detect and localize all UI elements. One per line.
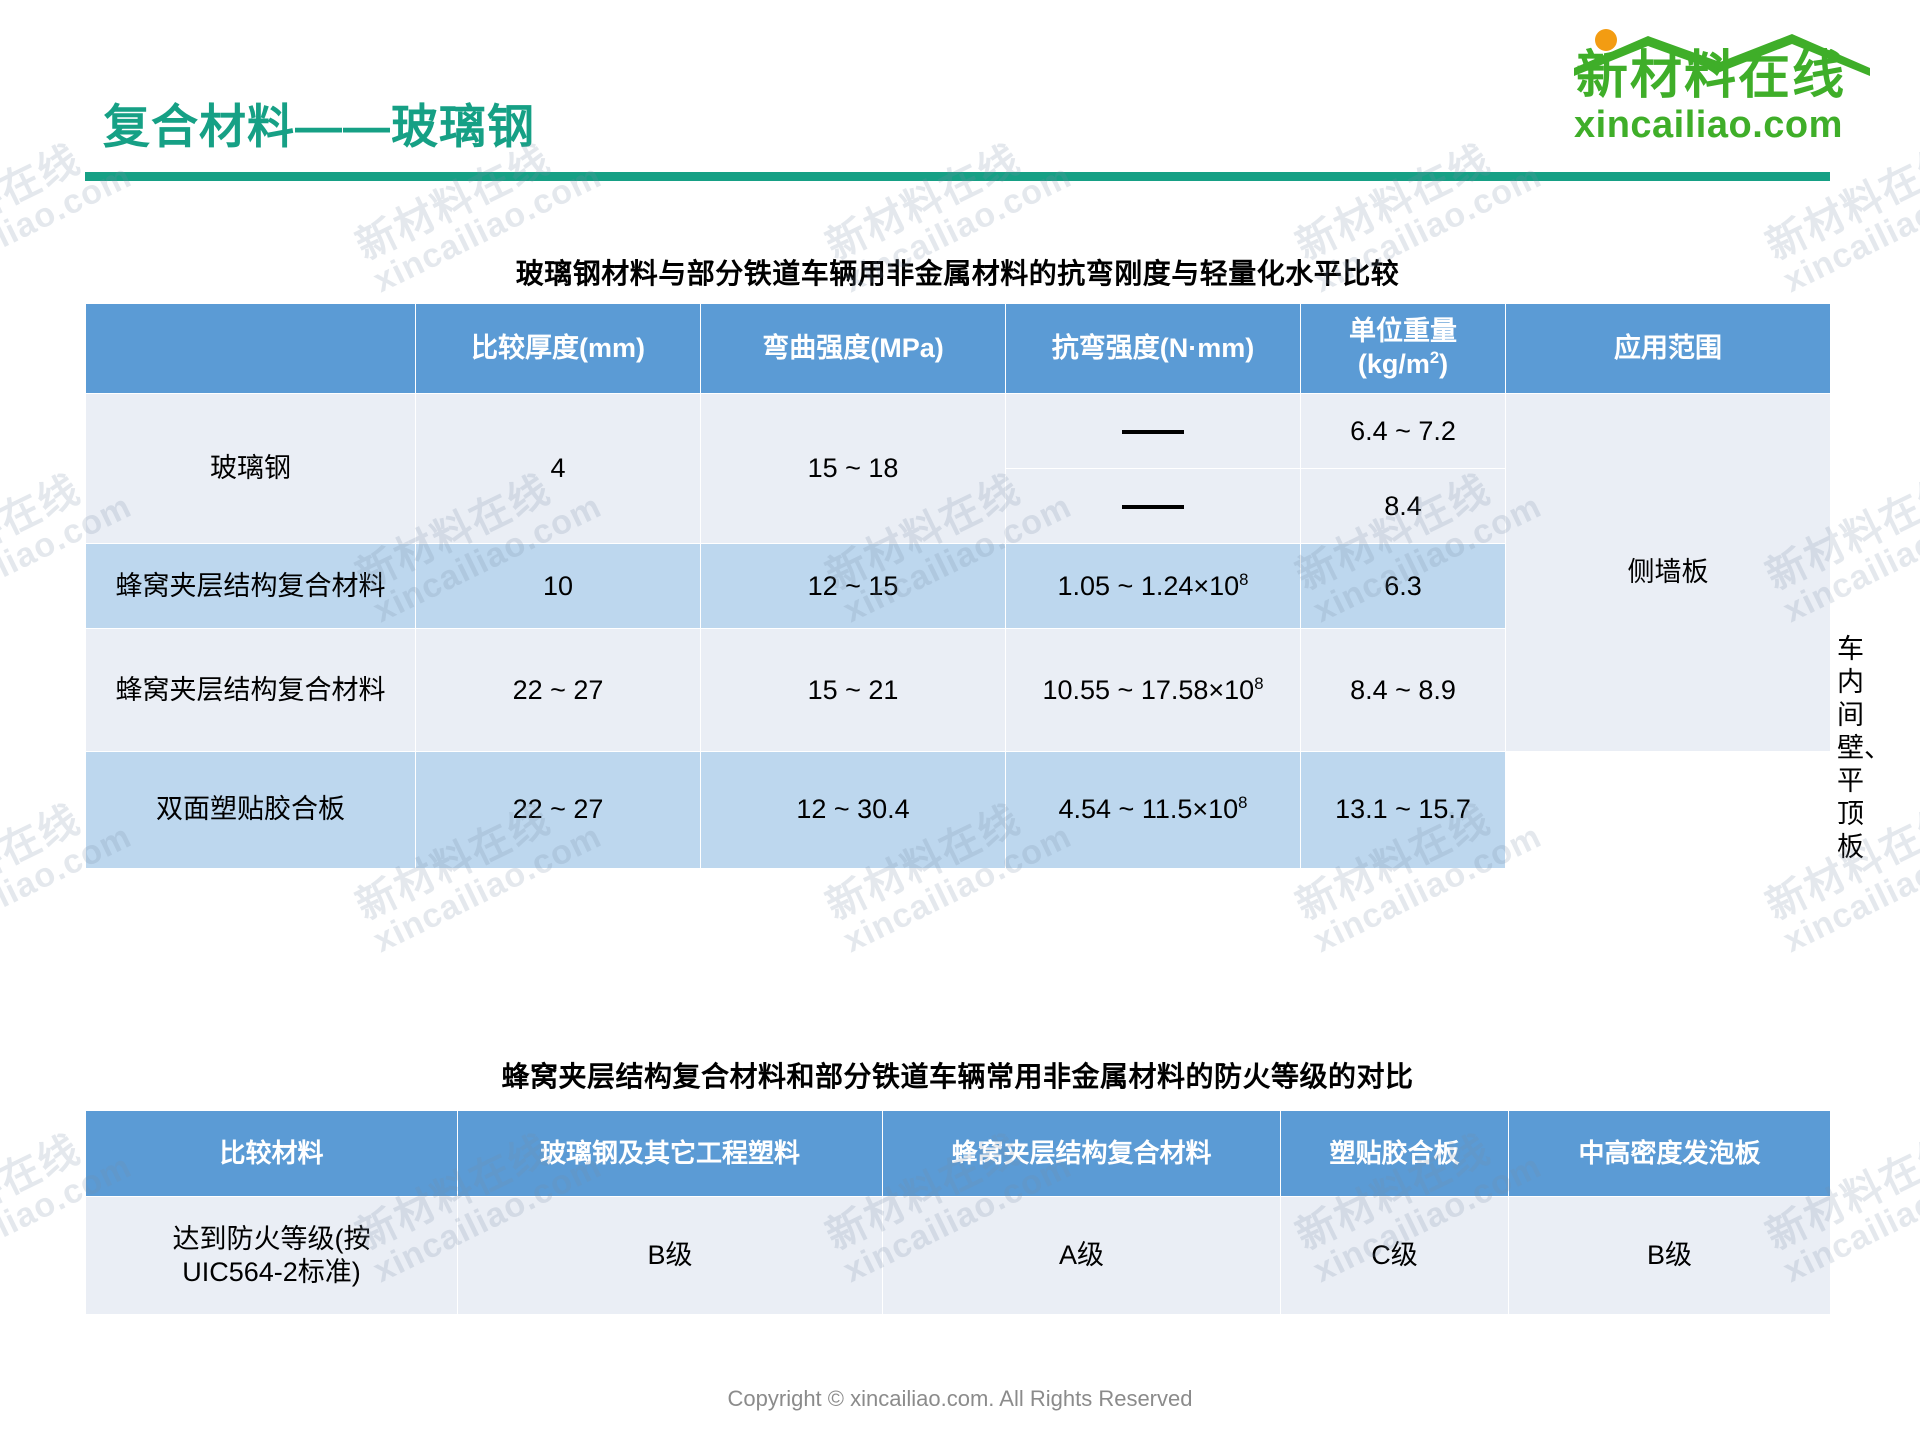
row1-material: 玻璃钢 <box>86 394 416 544</box>
row2-bending-strength: 12 ~ 15 <box>701 544 1006 629</box>
table-row: 达到防火等级(按 UIC564-2标准) B级 A级 C级 B级 <box>86 1197 1831 1315</box>
slide-header: 复合材料——玻璃钢 新材料在线 xincailiao.com <box>0 0 1920 190</box>
em-dash-icon <box>1122 430 1184 434</box>
brand-logo[interactable]: 新材料在线 xincailiao.com <box>1570 28 1880 140</box>
row4-flexural-exponent: 8 <box>1238 793 1247 812</box>
table1-col-flexural-strength: 抗弯强度(N·mm) <box>1006 304 1301 394</box>
table2-title: 蜂窝夹层结构复合材料和部分铁道车辆常用非金属材料的防火等级的对比 <box>85 1055 1830 1095</box>
row4-unit-weight: 13.1 ~ 15.7 <box>1301 752 1506 869</box>
unit-weight-line1: 单位重量 <box>1349 316 1457 346</box>
fire-rating-frp: B级 <box>458 1197 883 1315</box>
row1-unit-weight-a: 6.4 ~ 7.2 <box>1301 394 1506 469</box>
table1-col-bending-strength: 弯曲强度(MPa) <box>701 304 1006 394</box>
table2-header-row: 比较材料 玻璃钢及其它工程塑料 蜂窝夹层结构复合材料 塑贴胶合板 中高密度发泡板 <box>86 1111 1831 1197</box>
fire-rating-label: 达到防火等级(按 UIC564-2标准) <box>86 1197 458 1315</box>
row4-thickness: 22 ~ 27 <box>416 752 701 869</box>
em-dash-icon <box>1122 505 1184 509</box>
row4-flexural-base: 4.54 ~ 11.5×10 <box>1059 794 1239 824</box>
row2-flexural-base: 1.05 ~ 1.24×10 <box>1058 571 1240 601</box>
table1-title: 玻璃钢材料与部分铁道车辆用非金属材料的抗弯刚度与轻量化水平比较 <box>85 252 1830 292</box>
unit-weight-line2-pre: (kg/m <box>1358 349 1430 379</box>
unit-weight-exponent: 2 <box>1430 348 1439 367</box>
table1-header-row: 比较厚度(mm) 弯曲强度(MPa) 抗弯强度(N·mm) 单位重量 (kg/m… <box>86 304 1831 394</box>
table2-col-foam-board: 中高密度发泡板 <box>1509 1111 1831 1197</box>
table2-col-honeycomb: 蜂窝夹层结构复合材料 <box>883 1111 1281 1197</box>
row3-flexural-base: 10.55 ~ 17.58×10 <box>1042 675 1254 705</box>
title-underline-rule <box>85 172 1830 181</box>
table2-col-material: 比较材料 <box>86 1111 458 1197</box>
comparison-table-fire-rating: 比较材料 玻璃钢及其它工程塑料 蜂窝夹层结构复合材料 塑贴胶合板 中高密度发泡板… <box>85 1110 1831 1315</box>
table1-col-thickness: 比较厚度(mm) <box>416 304 701 394</box>
row1-application: 侧墙板 <box>1506 394 1831 752</box>
row1-flexural-strength-b <box>1006 469 1301 544</box>
row1-flexural-strength-a <box>1006 394 1301 469</box>
logo-name-cn: 新材料在线 <box>1576 48 1846 104</box>
table1-col-application: 应用范围 <box>1506 304 1831 394</box>
footer-copyright: Copyright © xincailiao.com. All Rights R… <box>0 1386 1920 1412</box>
table-row: 玻璃钢 4 15 ~ 18 6.4 ~ 7.2 侧墙板 <box>86 394 1831 469</box>
row3-material: 蜂窝夹层结构复合材料 <box>86 629 416 752</box>
row1-unit-weight-b: 8.4 <box>1301 469 1506 544</box>
fire-rating-honeycomb: A级 <box>883 1197 1281 1315</box>
row1-bending-strength: 15 ~ 18 <box>701 394 1006 544</box>
fire-rating-label-line1: 达到防火等级(按 <box>173 1224 371 1254</box>
table2-col-plywood: 塑贴胶合板 <box>1281 1111 1509 1197</box>
logo-url: xincailiao.com <box>1574 104 1843 147</box>
row3-thickness: 22 ~ 27 <box>416 629 701 752</box>
row3-unit-weight: 8.4 ~ 8.9 <box>1301 629 1506 752</box>
fire-rating-plywood: C级 <box>1281 1197 1509 1315</box>
row2-flexural-strength: 1.05 ~ 1.24×108 <box>1006 544 1301 629</box>
row2-material: 蜂窝夹层结构复合材料 <box>86 544 416 629</box>
row2-unit-weight: 6.3 <box>1301 544 1506 629</box>
table1-col-material <box>86 304 416 394</box>
table1-col-unit-weight: 单位重量 (kg/m2) <box>1301 304 1506 394</box>
row4-flexural-strength: 4.54 ~ 11.5×108 <box>1006 752 1301 869</box>
row4-bending-strength: 12 ~ 30.4 <box>701 752 1006 869</box>
row3-flexural-strength: 10.55 ~ 17.58×108 <box>1006 629 1301 752</box>
row1-thickness: 4 <box>416 394 701 544</box>
unit-weight-line2-post: ) <box>1439 349 1448 379</box>
page-title: 复合材料——玻璃钢 <box>103 88 535 157</box>
row2-thickness: 10 <box>416 544 701 629</box>
slide-page: 复合材料——玻璃钢 新材料在线 xincailiao.com 玻璃钢材料与部分铁… <box>0 0 1920 1440</box>
row3-flexural-exponent: 8 <box>1254 674 1263 693</box>
fire-rating-label-line2: UIC564-2标准) <box>182 1257 361 1287</box>
comparison-table-stiffness: 比较厚度(mm) 弯曲强度(MPa) 抗弯强度(N·mm) 单位重量 (kg/m… <box>85 303 1831 869</box>
fire-rating-foam: B级 <box>1509 1197 1831 1315</box>
table-row: 双面塑贴胶合板 22 ~ 27 12 ~ 30.4 4.54 ~ 11.5×10… <box>86 752 1831 869</box>
row3-bending-strength: 15 ~ 21 <box>701 629 1006 752</box>
table2-col-frp-plastics: 玻璃钢及其它工程塑料 <box>458 1111 883 1197</box>
row4-material: 双面塑贴胶合板 <box>86 752 416 869</box>
row2-flexural-exponent: 8 <box>1239 570 1248 589</box>
